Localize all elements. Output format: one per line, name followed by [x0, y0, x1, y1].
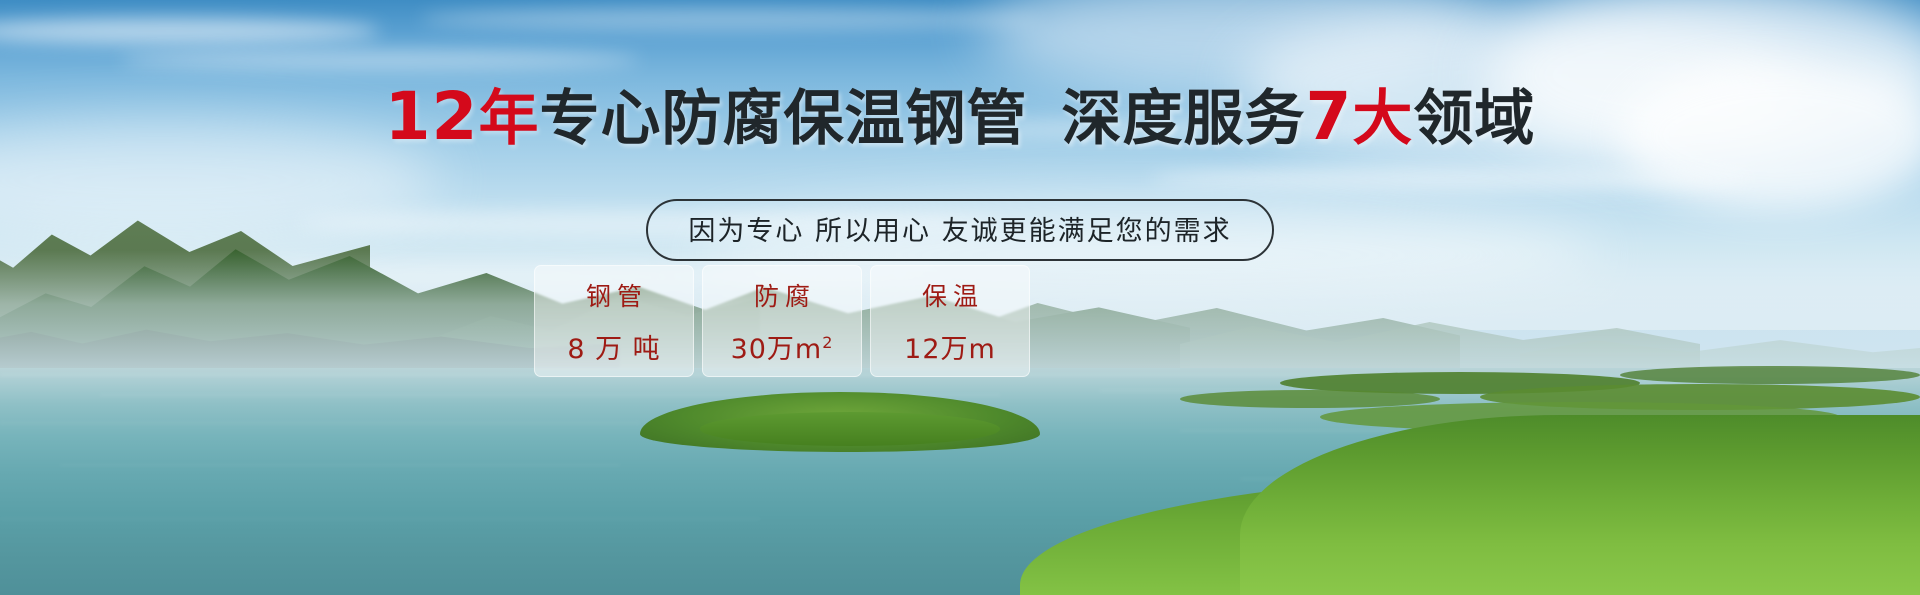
headline-main-text: 专心防腐保温钢管: [539, 84, 1027, 154]
stat-card-value-base: 12万m: [904, 334, 996, 365]
banner-subtitle-wrapper: 因为专心 所以用心 友诚更能满足您的需求: [0, 199, 1920, 261]
headline-fields-unit: 大: [1352, 84, 1413, 154]
stat-card-value-base: 8 万 吨: [567, 334, 660, 365]
stat-card-value-base: 30万m: [731, 334, 823, 365]
stat-card-value-sup: 2: [822, 333, 833, 352]
promo-banner: 12年专心防腐保温钢管深度服务7大领域 因为专心 所以用心 友诚更能满足您的需求…: [0, 0, 1920, 595]
stat-card-value: 30万m2: [731, 327, 834, 366]
stat-card-steel-pipe[interactable]: 钢管 8 万 吨: [534, 265, 694, 377]
stat-card-title: 保温: [916, 277, 984, 313]
stat-card-group: 钢管 8 万 吨 防腐 30万m2 保温 12万m: [534, 265, 1030, 377]
headline-years-number: 12: [385, 78, 479, 155]
headline-service-text: 深度服务: [1061, 84, 1305, 154]
headline-fields-number: 7: [1305, 78, 1352, 155]
stat-card-insulation[interactable]: 保温 12万m: [870, 265, 1030, 377]
headline-years-unit: 年: [478, 84, 539, 154]
stat-card-title: 防腐: [748, 277, 816, 313]
stat-card-value: 8 万 吨: [567, 327, 660, 366]
headline-fields-text: 领域: [1413, 84, 1535, 154]
stat-card-title: 钢管: [580, 277, 648, 313]
stat-card-value: 12万m: [904, 327, 996, 366]
stat-card-anticorrosion[interactable]: 防腐 30万m2: [702, 265, 862, 377]
banner-headline: 12年专心防腐保温钢管深度服务7大领域: [0, 82, 1920, 154]
grass-island-shore: [700, 412, 1000, 446]
banner-subtitle-pill: 因为专心 所以用心 友诚更能满足您的需求: [646, 199, 1273, 261]
